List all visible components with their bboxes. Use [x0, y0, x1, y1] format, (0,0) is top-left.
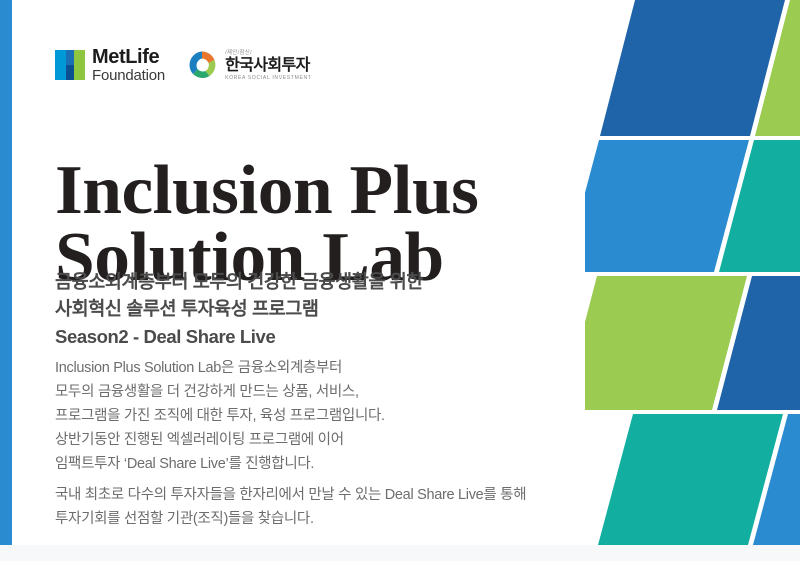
ksi-ring-mark-icon [187, 50, 217, 80]
metlife-wordmark: MetLife [92, 47, 165, 68]
ksi-tagline: /제안/참신/ [225, 51, 312, 57]
body-primary-line4: 상반기동안 진행된 엑셀러레이팅 프로그램에 이어 [55, 429, 575, 453]
chevron-teal-r4 [598, 414, 783, 545]
body-primary-line5: 임팩트투자 ‘Deal Share Live’를 진행합니다. [55, 453, 575, 477]
body-paragraph-secondary: 국내 최초로 다수의 투자자들을 한자리에서 만날 수 있는 Deal Shar… [55, 484, 595, 532]
poster-canvas: MetLife Foundation /제안/참신/ 한국사회투자 KOREA … [0, 0, 800, 561]
body-primary-line2: 모두의 금융생활을 더 건강하게 만드는 상품, 서비스, [55, 381, 575, 405]
body-paragraph-primary: Inclusion Plus Solution Lab은 금융소외계층부터 모두… [55, 357, 575, 477]
page-title-line1: Inclusion Plus [55, 152, 478, 229]
body-primary-line1: Inclusion Plus Solution Lab은 금융소외계층부터 [55, 357, 575, 381]
subtitle-line1: 금융소외계층부터 모두의 건강한 금융생활을 위한 [55, 268, 575, 295]
chevron-dark-blue-r1 [600, 0, 785, 136]
left-accent-bar [0, 0, 12, 561]
metlife-foundation-subword: Foundation [92, 68, 165, 84]
subtitle-block: 금융소외계층부터 모두의 건강한 금융생활을 위한 사회혁신 솔루션 투자육성 … [55, 268, 575, 350]
ksi-english-name: KOREA SOCIAL INVESTMENT [225, 76, 312, 81]
body-primary-line3: 프로그램을 가진 조직에 대한 투자, 육성 프로그램입니다. [55, 405, 575, 429]
subtitle-line2: 사회혁신 솔루션 투자육성 프로그램 [55, 295, 575, 322]
subtitle-line3: Season2 - Deal Share Live [55, 323, 575, 350]
body-secondary-line2: 투자기회를 선점할 기관(조직)들을 찾습니다. [55, 508, 595, 532]
bottom-strip [0, 545, 800, 561]
ksi-wordmark: 한국사회투자 [225, 58, 312, 74]
korea-social-investment-logo: /제안/참신/ 한국사회투자 KOREA SOCIAL INVESTMENT [187, 50, 312, 82]
metlife-m-mark-icon [55, 50, 85, 80]
body-secondary-line1: 국내 최초로 다수의 투자자들을 한자리에서 만날 수 있는 Deal Shar… [55, 484, 595, 508]
metlife-foundation-logo: MetLife Foundation [55, 47, 165, 84]
logo-row: MetLife Foundation /제안/참신/ 한국사회투자 KOREA … [55, 47, 312, 84]
